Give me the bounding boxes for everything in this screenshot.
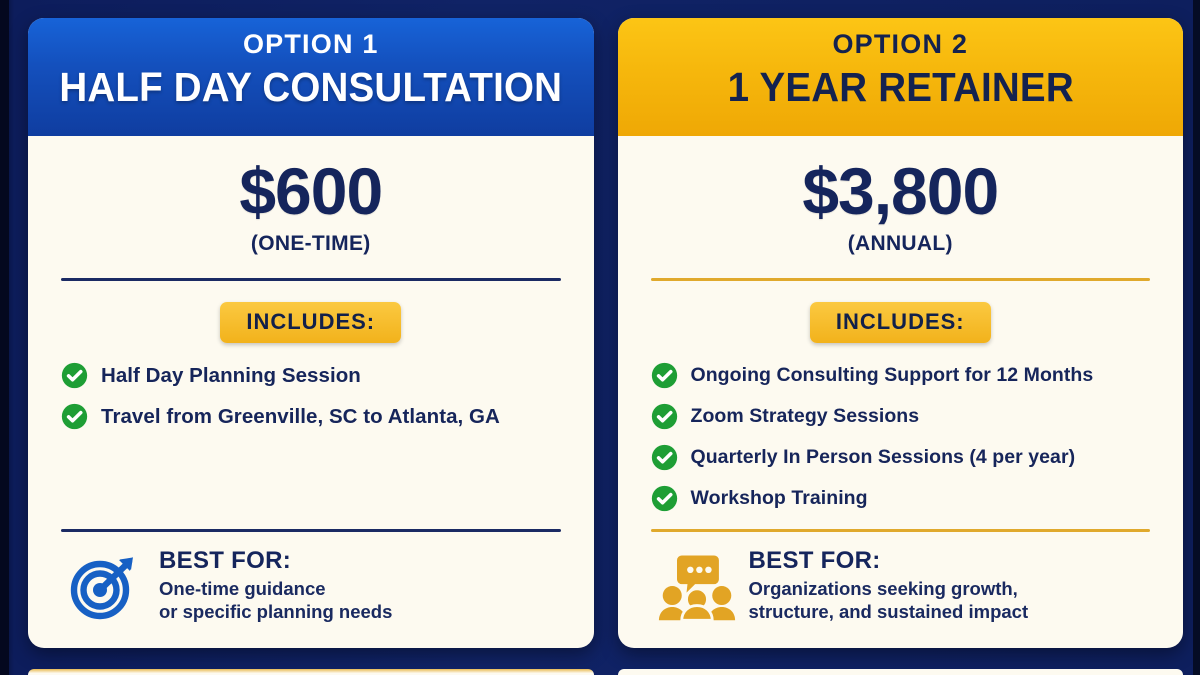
card-header-option-1: OPTION 1 HALF DAY CONSULTATION (28, 18, 594, 136)
includes-badge-wrap: INCLUDES: (61, 302, 561, 343)
price-amount: $3,800 (651, 158, 1151, 224)
check-circle-icon (651, 362, 678, 389)
list-item: Quarterly In Person Sessions (4 per year… (651, 444, 1151, 471)
price-note: (ANNUAL) (651, 232, 1151, 256)
card-body-option-1: $600 (ONE-TIME) INCLUDES: Half (28, 136, 594, 648)
option-label: OPTION 2 (618, 31, 1184, 58)
feature-text: Ongoing Consulting Support for 12 Months (691, 364, 1094, 387)
feature-text: Quarterly In Person Sessions (4 per year… (691, 446, 1076, 469)
best-for-title: BEST FOR: (749, 548, 1029, 574)
card-header-option-2: OPTION 2 1 YEAR RETAINER (618, 18, 1184, 136)
feature-text: Workshop Training (691, 487, 868, 510)
plan-name: 1 YEAR RETAINER (634, 65, 1166, 111)
price-amount: $600 (61, 158, 561, 224)
best-for-section-option-1: BEST FOR: One-time guidance or specific … (61, 548, 561, 648)
divider-bottom (61, 529, 561, 532)
pricing-card-option-2[interactable]: OPTION 2 1 YEAR RETAINER $3,800 (ANNUAL)… (618, 18, 1184, 648)
divider-bottom (651, 529, 1151, 532)
pricing-cards-container: OPTION 1 HALF DAY CONSULTATION $600 (ONE… (28, 18, 1183, 648)
next-card-peek-left (28, 669, 594, 675)
check-circle-icon (651, 444, 678, 471)
divider-top (61, 278, 561, 281)
slide-stage: OPTION 1 HALF DAY CONSULTATION $600 (ONE… (0, 0, 1200, 675)
feature-text: Half Day Planning Session (101, 364, 361, 388)
card-body-option-2: $3,800 (ANNUAL) INCLUDES: Ongo (618, 136, 1184, 648)
list-item: Travel from Greenville, SC to Atlanta, G… (61, 403, 561, 430)
feature-text: Travel from Greenville, SC to Atlanta, G… (101, 405, 500, 429)
list-item: Workshop Training (651, 485, 1151, 512)
best-for-text-block: BEST FOR: One-time guidance or specific … (159, 548, 392, 624)
plan-name: HALF DAY CONSULTATION (45, 65, 577, 111)
includes-badge: INCLUDES: (220, 302, 401, 343)
price-note: (ONE-TIME) (61, 232, 561, 256)
best-for-text-block: BEST FOR: Organizations seeking growth, … (749, 548, 1029, 624)
best-for-description: Organizations seeking growth, structure,… (749, 577, 1029, 624)
check-circle-icon (651, 403, 678, 430)
next-card-peek (28, 669, 1183, 675)
best-for-title: BEST FOR: (159, 548, 392, 574)
flex-spacer (61, 444, 561, 529)
pricing-card-option-1[interactable]: OPTION 1 HALF DAY CONSULTATION $600 (ONE… (28, 18, 594, 648)
divider-top (651, 278, 1151, 281)
feature-list-option-1: Half Day Planning Session Travel from Gr… (61, 362, 561, 444)
includes-badge: INCLUDES: (810, 302, 991, 343)
check-circle-icon (651, 485, 678, 512)
feature-list-option-2: Ongoing Consulting Support for 12 Months… (651, 362, 1151, 526)
list-item: Half Day Planning Session (61, 362, 561, 389)
option-label: OPTION 1 (28, 31, 594, 58)
target-icon (67, 550, 139, 622)
next-card-peek-right (618, 669, 1184, 675)
best-for-section-option-2: BEST FOR: Organizations seeking growth, … (651, 548, 1151, 648)
list-item: Ongoing Consulting Support for 12 Months (651, 362, 1151, 389)
check-circle-icon (61, 403, 88, 430)
list-item: Zoom Strategy Sessions (651, 403, 1151, 430)
people-chat-icon (657, 550, 729, 622)
includes-badge-wrap: INCLUDES: (651, 302, 1151, 343)
feature-text: Zoom Strategy Sessions (691, 405, 920, 428)
best-for-description: One-time guidance or specific planning n… (159, 577, 392, 624)
check-circle-icon (61, 362, 88, 389)
